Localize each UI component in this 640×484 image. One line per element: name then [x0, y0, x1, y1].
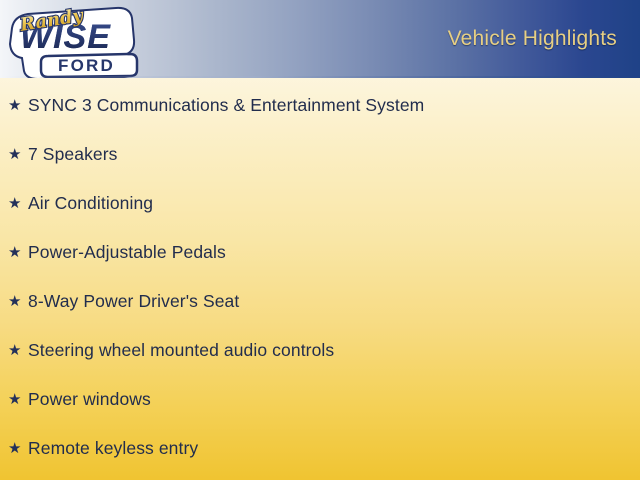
feature-label: Power-Adjustable Pedals	[28, 242, 226, 263]
feature-label: Steering wheel mounted audio controls	[28, 340, 334, 361]
star-icon: ★	[8, 392, 28, 407]
vehicle-highlights-page: WISE WISE Randy FORD Vehicle Highlights …	[0, 0, 640, 480]
list-item: ★ 7 Speakers	[0, 141, 640, 167]
star-icon: ★	[8, 196, 28, 211]
feature-label: SYNC 3 Communications & Entertainment Sy…	[28, 95, 424, 116]
star-icon: ★	[8, 343, 28, 358]
list-item: ★ Power windows	[0, 386, 640, 412]
list-item: ★ Remote keyless entry	[0, 435, 640, 461]
svg-text:FORD: FORD	[58, 56, 115, 75]
star-icon: ★	[8, 147, 28, 162]
feature-label: Power windows	[28, 389, 151, 410]
list-item: ★ Steering wheel mounted audio controls	[0, 337, 640, 363]
vehicle-highlights-list: ★ SYNC 3 Communications & Entertainment …	[0, 78, 640, 484]
feature-label: 8-Way Power Driver's Seat	[28, 291, 239, 312]
logo-ford-banner: FORD	[41, 54, 137, 77]
list-item: ★ 8-Way Power Driver's Seat	[0, 288, 640, 314]
page-title: Vehicle Highlights	[448, 27, 617, 51]
feature-label: Remote keyless entry	[28, 438, 198, 459]
list-item: ★ SYNC 3 Communications & Entertainment …	[0, 92, 640, 118]
star-icon: ★	[8, 98, 28, 113]
randy-wise-ford-logo[interactable]: WISE WISE Randy FORD	[4, 0, 144, 78]
star-icon: ★	[8, 245, 28, 260]
list-item: ★ Air Conditioning	[0, 190, 640, 216]
star-icon: ★	[8, 441, 28, 456]
feature-label: Air Conditioning	[28, 193, 153, 214]
star-icon: ★	[8, 294, 28, 309]
list-item: ★ Power-Adjustable Pedals	[0, 239, 640, 265]
feature-label: 7 Speakers	[28, 144, 118, 165]
page-header: WISE WISE Randy FORD Vehicle Highlights	[0, 0, 640, 78]
